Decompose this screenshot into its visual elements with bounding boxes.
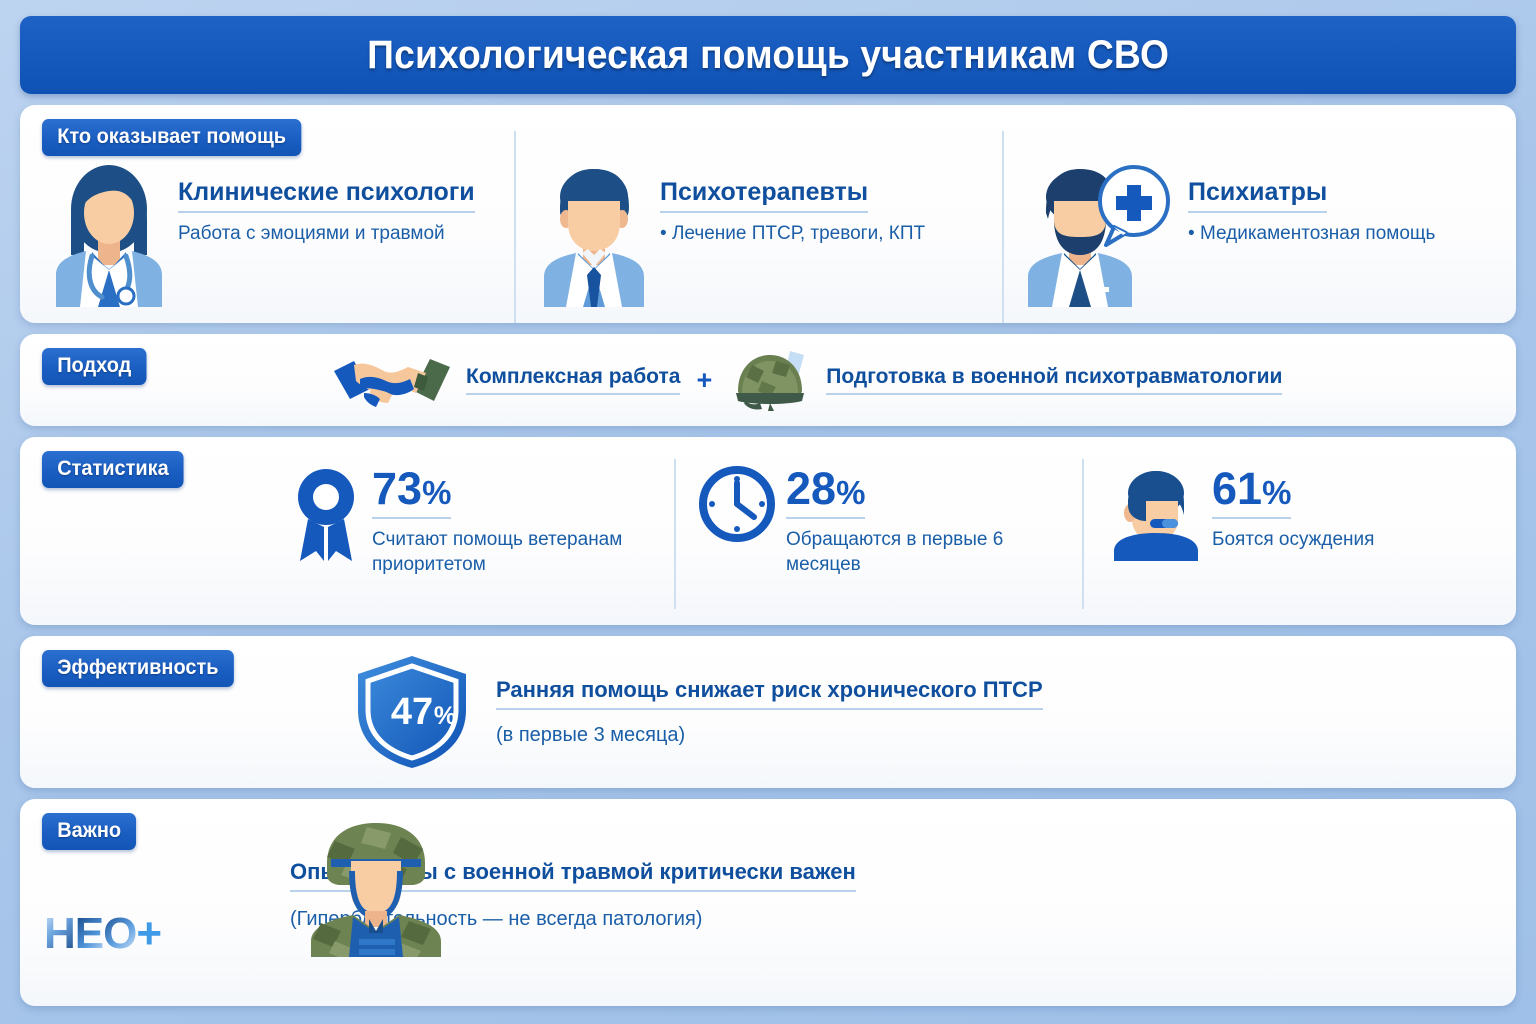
stat-text: 28% Обращаются в первые 6 месяцев (786, 465, 1082, 577)
neo-plus-logo: НЕО+ (44, 912, 161, 956)
stat-text: 73% Считают помощь ветеранам приоритетом (372, 465, 674, 577)
infographic-page: Психологическая помощь участникам СВО Кт… (0, 0, 1536, 1024)
section-providers: Кто оказывает помощь (20, 105, 1516, 323)
stat-item: 28% Обращаются в первые 6 месяцев (674, 459, 1082, 609)
plus-sign: + (696, 365, 712, 396)
female-clinical-psychologist-avatar (46, 157, 172, 307)
provider-psychotherapists: Психотерапевты • Лечение ПТСР, тревоги, … (514, 131, 1002, 323)
person-headset-icon (1106, 465, 1202, 561)
section-approach: Подход Комплексная работа + (20, 334, 1516, 426)
providers-row: Клинические психологи Работа с эмоциями … (20, 105, 1516, 323)
provider-desc-text: Медикаментозная помощь (1200, 223, 1436, 244)
provider-text: Психотерапевты • Лечение ПТСР, тревоги, … (660, 157, 925, 246)
provider-title: Психиатры (1188, 179, 1327, 213)
provider-title: Психотерапевты (660, 179, 868, 213)
stat-desc: Считают помощь ветеранам приоритетом (372, 527, 674, 577)
section-badge-important: Важно (42, 813, 136, 850)
stat-item: 61% Боятся осуждения (1082, 459, 1490, 609)
percent-sign: % (422, 474, 451, 511)
logo-letter-o: О (103, 909, 136, 958)
page-title-bar: Психологическая помощь участникам СВО (20, 16, 1516, 94)
section-badge-approach: Подход (42, 348, 147, 385)
section-badge-effectiveness: Эффективность (42, 650, 234, 687)
stat-value: 28% (786, 467, 865, 519)
provider-desc: Работа с эмоциями и травмой (178, 221, 475, 246)
handshake-icon (330, 347, 454, 413)
approach-text-right: Подготовка в военной психотравматологии (826, 365, 1282, 395)
effectiveness-sub: (в первые 3 месяца) (496, 724, 1043, 747)
award-ribbon-icon (290, 465, 362, 575)
percent-sign: % (836, 474, 865, 511)
approach-text-left: Комплексная работа (466, 365, 680, 395)
section-statistics: Статистика 73% Считают помощь ветеранам … (20, 437, 1516, 625)
provider-desc-text: Лечение ПТСР, тревоги, КПТ (672, 223, 925, 244)
clock-icon (698, 465, 776, 543)
stat-value: 61% (1212, 467, 1291, 519)
shield-value: 47 (391, 691, 433, 733)
section-effectiveness: Эффективность 47 % Ранняя п (20, 636, 1516, 788)
provider-title: Клинические психологи (178, 179, 475, 213)
bullet-marker: • (660, 223, 667, 244)
shield-icon: 47 % (350, 652, 474, 772)
stat-desc: Боятся осуждения (1212, 527, 1374, 552)
bearded-psychiatrist-avatar (1022, 157, 1182, 307)
important-row: Опыт работы с военной травмой критически… (20, 799, 1516, 1006)
provider-clinical-psychologists: Клинические психологи Работа с эмоциями … (46, 131, 514, 323)
stat-desc: Обращаются в первые 6 месяцев (786, 527, 1082, 577)
provider-desc: • Лечение ПТСР, тревоги, КПТ (660, 221, 925, 246)
logo-letter-e: Е (75, 909, 103, 958)
logo-letter-n: Н (44, 909, 75, 958)
page-title: Психологическая помощь участникам СВО (367, 33, 1169, 78)
section-important: Важно (20, 799, 1516, 1006)
statistics-row: 73% Считают помощь ветеранам приоритетом (20, 437, 1516, 625)
logo-plus-icon: + (136, 909, 161, 958)
stat-value: 73% (372, 467, 451, 519)
percent-sign: % (1262, 474, 1291, 511)
provider-text: Психиатры • Медикаментозная помощь (1188, 157, 1435, 246)
shield-unit: % (434, 702, 456, 730)
section-badge-statistics: Статистика (42, 451, 184, 488)
male-psychotherapist-avatar (534, 157, 654, 307)
stat-text: 61% Боятся осуждения (1212, 465, 1374, 552)
effectiveness-text: Ранняя помощь снижает риск хронического … (496, 677, 1043, 747)
military-helmet-icon (728, 347, 814, 413)
provider-desc: • Медикаментозная помощь (1188, 221, 1435, 246)
provider-text: Клинические психологи Работа с эмоциями … (178, 157, 475, 246)
bullet-marker: • (1188, 223, 1195, 244)
provider-psychiatrists: Психиатры • Медикаментозная помощь (1002, 131, 1490, 323)
effectiveness-main: Ранняя помощь снижает риск хронического … (496, 677, 1043, 710)
soldier-avatar (305, 815, 447, 957)
effectiveness-row: 47 % Ранняя помощь снижает риск хроничес… (20, 636, 1516, 788)
approach-row: Комплексная работа + Подготовка в военно… (20, 334, 1516, 426)
stat-item: 73% Считают помощь ветеранам приоритетом (290, 459, 674, 609)
